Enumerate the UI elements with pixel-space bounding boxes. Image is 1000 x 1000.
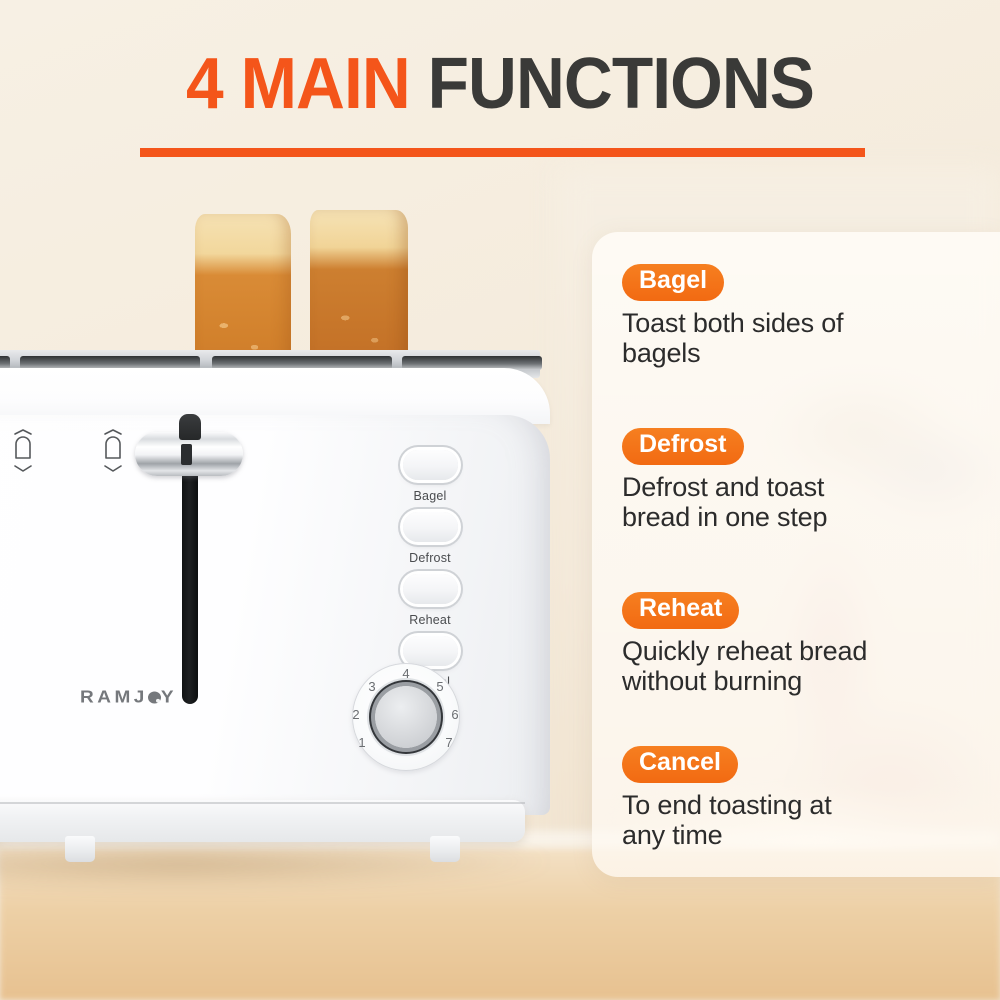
title-rest-text: FUNCTIONS [428, 44, 814, 124]
page-title: 4 MAIN FUNCTIONS [0, 48, 1000, 120]
control-button-reheat[interactable]: Reheat [375, 574, 485, 627]
browning-control-dial[interactable]: 1 2 3 4 5 6 7 [352, 663, 460, 771]
lever-nub [179, 414, 201, 440]
feature-item-bagel: Bagel Toast both sides of bagels [622, 264, 982, 368]
feature-description: Quickly reheat bread without burning [622, 636, 982, 696]
bread-lift-icon-right [95, 428, 131, 480]
dial-number-3: 3 [365, 679, 379, 694]
feature-item-cancel: Cancel To end toasting at any time [622, 746, 982, 850]
dial-number-2: 2 [349, 707, 363, 722]
dial-number-6: 6 [448, 707, 462, 722]
dial-number-1: 1 [355, 735, 369, 750]
bread-lift-icon-left [5, 428, 41, 480]
toaster-product-image: Bagel Defrost Reheat Cancel 1 2 3 4 5 6 … [0, 200, 580, 900]
features-panel: Bagel Toast both sides of bagels Defrost… [592, 232, 1000, 877]
feature-badge: Defrost [622, 428, 744, 465]
brand-logo-suffix: Y [161, 688, 177, 707]
brand-logo-text: RAMJ [80, 688, 148, 707]
toaster-foot-right [430, 836, 460, 862]
button-cap [403, 512, 458, 542]
dial-number-4: 4 [399, 666, 413, 681]
lever-stem [182, 472, 198, 704]
feature-badge: Cancel [622, 746, 738, 783]
brand-logo-o-icon [148, 692, 161, 704]
control-button-label: Reheat [375, 613, 485, 627]
feature-item-defrost: Defrost Defrost and toast bread in one s… [622, 428, 982, 532]
title-accent-text: 4 MAIN [186, 44, 410, 124]
feature-badge: Bagel [622, 264, 724, 301]
button-cap [403, 450, 458, 480]
control-button-bagel[interactable]: Bagel [375, 450, 485, 503]
button-cap [403, 636, 458, 666]
control-button-label: Defrost [375, 551, 485, 565]
toaster-foot-left [65, 836, 95, 862]
control-button-label: Bagel [375, 489, 485, 503]
feature-item-reheat: Reheat Quickly reheat bread without burn… [622, 592, 982, 696]
brand-logo: RAMJY [80, 688, 177, 708]
title-underline [140, 148, 865, 157]
feature-description: To end toasting at any time [622, 790, 982, 850]
dial-knob[interactable] [375, 686, 437, 748]
button-cap [403, 574, 458, 604]
feature-description: Toast both sides of bagels [622, 308, 982, 368]
feature-description: Defrost and toast bread in one step [622, 472, 982, 532]
dial-number-5: 5 [433, 679, 447, 694]
control-button-defrost[interactable]: Defrost [375, 512, 485, 565]
dial-number-7: 7 [442, 735, 456, 750]
feature-badge: Reheat [622, 592, 739, 629]
control-button-group: Bagel Defrost Reheat Cancel [375, 450, 485, 698]
